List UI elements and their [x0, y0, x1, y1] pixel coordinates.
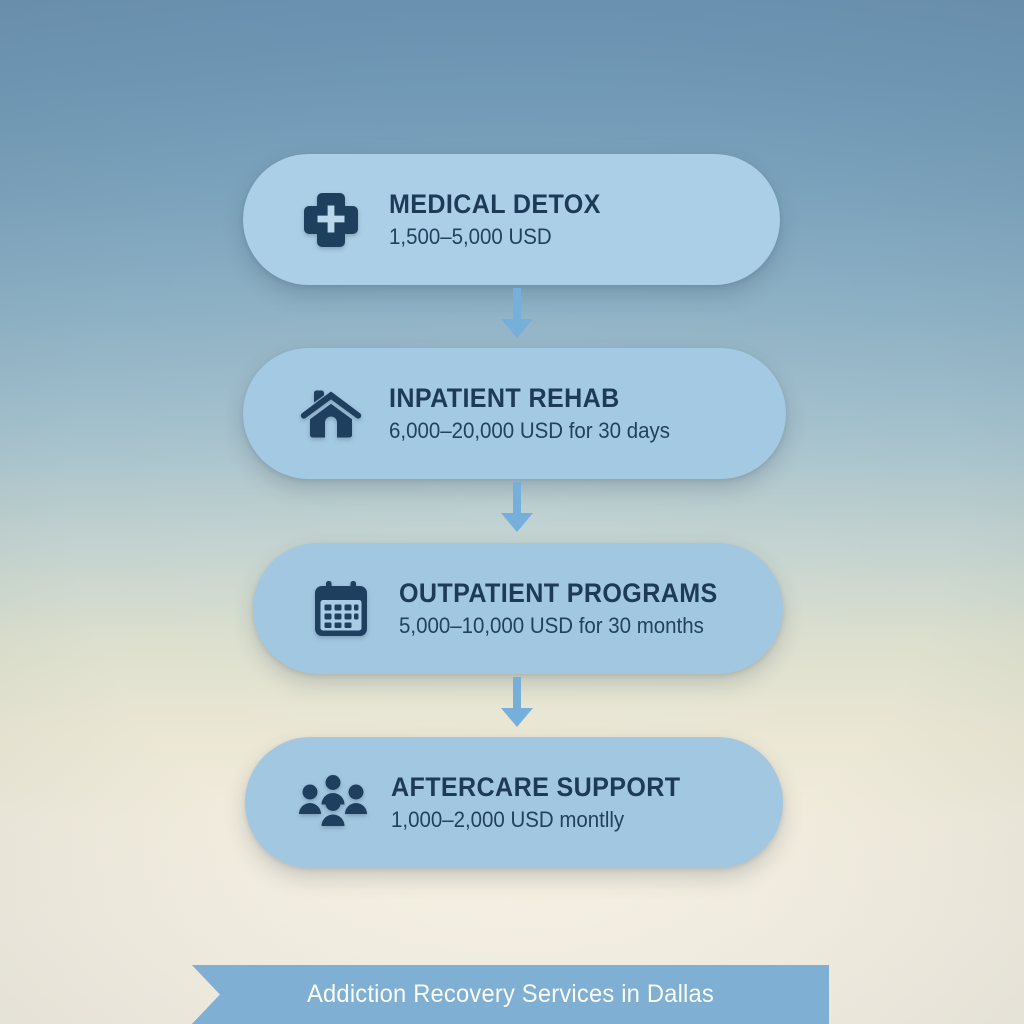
- step-card-medical-detox[interactable]: MEDICAL DETOX 1,500–5,000 USD: [243, 154, 780, 285]
- arrow-down-icon: [494, 677, 540, 729]
- arrow-down-icon: [494, 482, 540, 534]
- arrow-down-icon: [494, 288, 540, 340]
- step-card-inpatient-rehab[interactable]: INPATIENT REHAB 6,000–20,000 USD for 30 …: [243, 348, 786, 479]
- step-title: OUTPATIENT PROGRAMS: [399, 578, 739, 609]
- step-cost: 1,500–5,000 USD: [389, 224, 736, 250]
- step-cost: 1,000–2,000 USD montlly: [391, 807, 739, 833]
- step-card-text: INPATIENT REHAB 6,000–20,000 USD for 30 …: [389, 383, 786, 444]
- step-card-aftercare-support[interactable]: AFTERCARE SUPPORT 1,000–2,000 USD montll…: [245, 737, 783, 868]
- step-cost: 5,000–10,000 USD for 30 months: [399, 613, 739, 639]
- people-group-icon: [285, 774, 381, 832]
- step-card-text: MEDICAL DETOX 1,500–5,000 USD: [389, 189, 780, 250]
- medical-cross-icon: [283, 189, 379, 251]
- bottom-ribbon: Addiction Recovery Services in Dallas: [192, 965, 829, 1024]
- step-card-text: AFTERCARE SUPPORT 1,000–2,000 USD montll…: [391, 772, 783, 833]
- calendar-icon: [293, 578, 389, 640]
- house-icon: [283, 383, 379, 445]
- infographic-canvas: MEDICAL DETOX 1,500–5,000 USD INPATIENT …: [0, 0, 1024, 1024]
- step-title: MEDICAL DETOX: [389, 189, 736, 220]
- step-cost: 6,000–20,000 USD for 30 days: [389, 418, 741, 444]
- step-card-outpatient-programs[interactable]: OUTPATIENT PROGRAMS 5,000–10,000 USD for…: [253, 543, 783, 674]
- ribbon-label: Addiction Recovery Services in Dallas: [208, 965, 813, 1024]
- step-card-text: OUTPATIENT PROGRAMS 5,000–10,000 USD for…: [399, 578, 783, 639]
- step-title: AFTERCARE SUPPORT: [391, 772, 739, 803]
- step-title: INPATIENT REHAB: [389, 383, 741, 414]
